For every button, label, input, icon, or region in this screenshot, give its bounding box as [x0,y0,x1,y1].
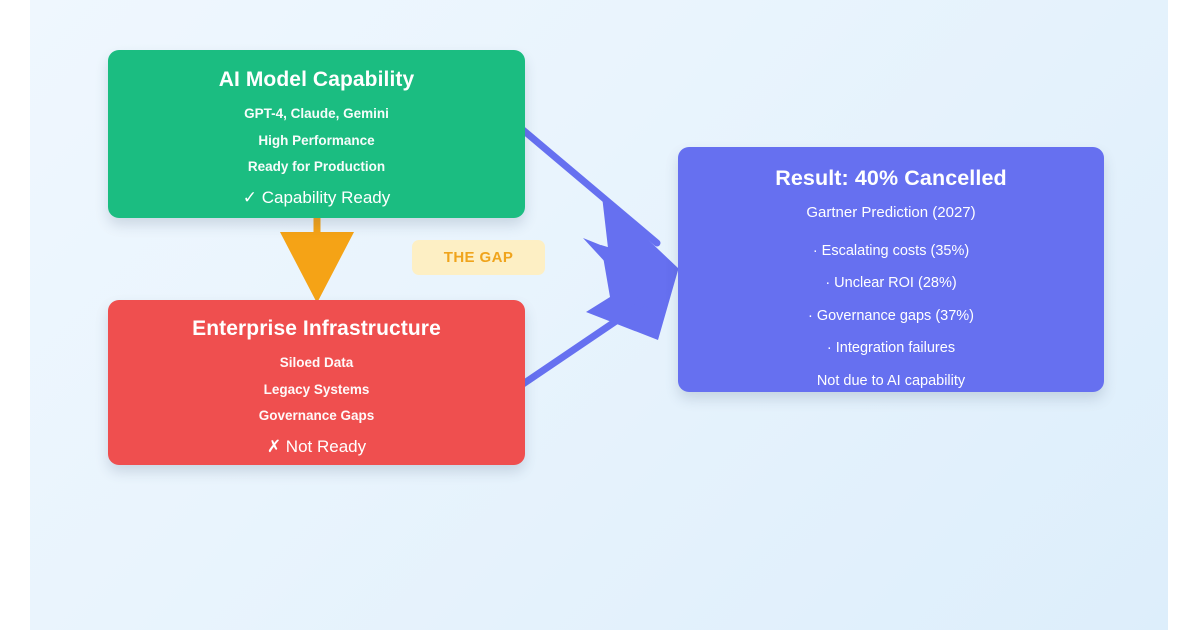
node-detail-line: Ready for Production [248,160,385,174]
connector-infrastructure-to-result [523,196,679,384]
the-gap-badge-label: THE GAP [444,249,513,266]
node-enterprise-infrastructure[interactable]: Enterprise Infrastructure Siloed Data Le… [108,300,525,465]
node-detail-line: Legacy Systems [264,383,370,397]
node-status-not-ready: ✗ Not Ready [267,438,366,455]
node-detail-line: GPT-4, Claude, Gemini [244,107,389,121]
diagram-canvas: AI Model Capability GPT-4, Claude, Gemin… [30,0,1168,630]
node-ai-model-capability[interactable]: AI Model Capability GPT-4, Claude, Gemin… [108,50,525,218]
gap-arrow [280,214,354,303]
node-footnote: Not due to AI capability [817,374,965,389]
node-title: AI Model Capability [219,68,415,91]
node-title: Enterprise Infrastructure [192,317,441,340]
node-status-capability-ready: ✓ Capability Ready [243,189,390,206]
node-bullet-item: · Integration failures [827,341,955,356]
node-result-cancelled[interactable]: Result: 40% Cancelled Gartner Prediction… [678,147,1104,392]
node-subtitle-gartner-prediction: Gartner Prediction (2027) [806,205,975,220]
the-gap-badge: THE GAP [412,240,545,275]
diagram-canvas-wrapper: AI Model Capability GPT-4, Claude, Gemin… [0,0,1200,630]
node-detail-line: Siloed Data [280,356,354,370]
node-bullet-item: · Unclear ROI (28%) [825,276,956,291]
node-bullet-item: · Governance gaps (37%) [808,309,974,324]
node-bullet-item: · Escalating costs (35%) [813,244,969,259]
node-detail-line: Governance Gaps [259,409,375,423]
node-detail-line: High Performance [258,134,374,148]
node-title: Result: 40% Cancelled [775,167,1007,191]
connector-capability-to-result [523,130,679,340]
